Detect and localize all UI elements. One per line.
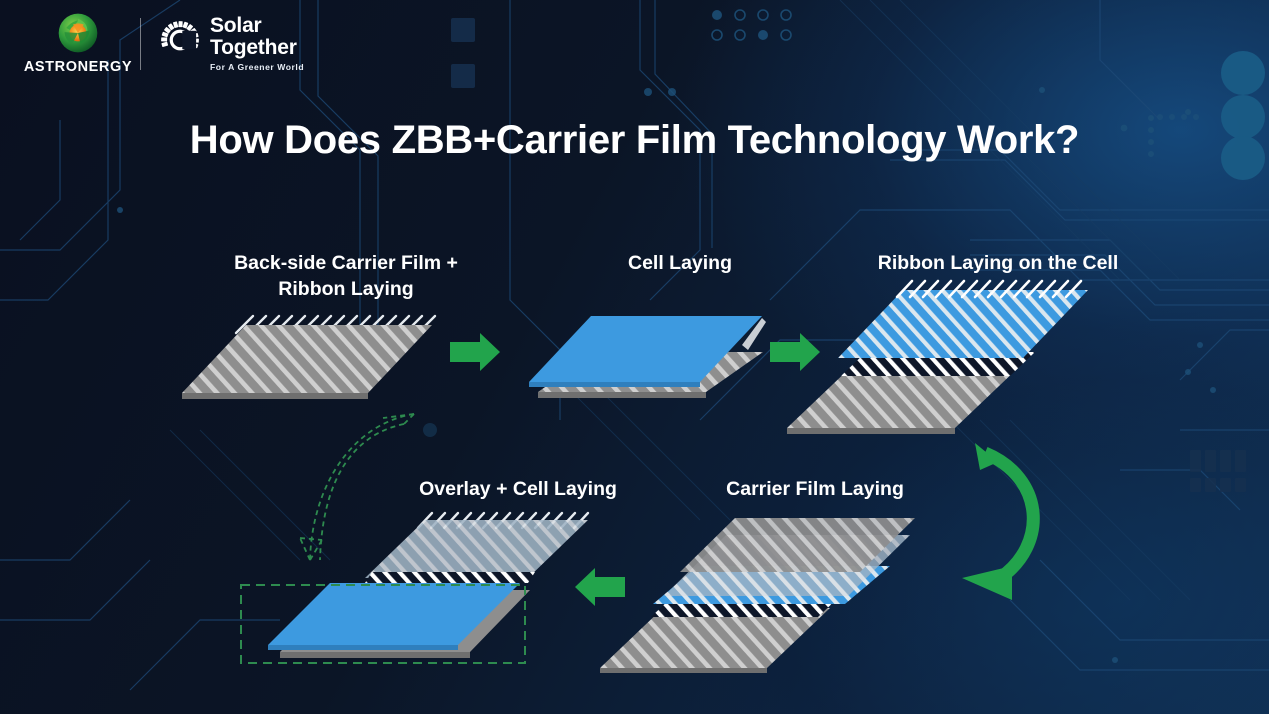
diagram-step-1 (182, 316, 435, 399)
diagram-step-3 (787, 281, 1088, 434)
arrow-step4-to-step5 (575, 568, 625, 606)
slide-root: ASTRONERGY (0, 0, 1269, 714)
diagram-step-4 (600, 518, 915, 673)
gray-carrier-film-step1-edge (182, 393, 368, 399)
astronergy-wordmark: ASTRONERGY (24, 59, 132, 75)
step-label-ribbon-laying-on-cell: Ribbon Laying on the Cell (838, 250, 1158, 276)
logo-divider (140, 18, 141, 70)
blue-cell-step3 (838, 290, 1088, 358)
overlay-film-step5 (365, 520, 588, 578)
astronergy-logo: ASTRONERGY (26, 12, 130, 75)
solar-together-text: Solar Together For A Greener World (210, 15, 304, 72)
diagram-step-2 (529, 316, 766, 398)
gray-base-step5-edge (280, 652, 470, 658)
gray-carrier-film-step3-edge (787, 428, 955, 434)
blue-cell-step2-edge (529, 382, 700, 387)
step-label-cell-laying: Cell Laying (556, 250, 804, 276)
step-label-back-side-carrier-film: Back-side Carrier Film + Ribbon Laying (178, 250, 514, 303)
solar-tagline: For A Greener World (210, 63, 304, 72)
solar-together-logo: Solar Together For A Greener World (157, 15, 304, 72)
solar-line-1: Solar (210, 15, 304, 36)
gray-carrier-film-step2-edge (538, 392, 706, 398)
blue-cell-step5-edge (268, 645, 458, 650)
process-diagram (0, 0, 1269, 714)
arrow-step3-to-step4 (962, 443, 1033, 600)
gray-carrier-film-step4-edge (600, 668, 767, 673)
ribbon-band-step5 (365, 572, 535, 583)
solar-arc-icon (157, 17, 203, 63)
step-label-overlay-cell-laying: Overlay + Cell Laying (360, 476, 676, 502)
arrow-step2-to-step3 (770, 333, 820, 371)
solar-line-2: Together (210, 37, 304, 58)
logo-bar: ASTRONERGY (26, 12, 304, 75)
astronergy-globe-icon (57, 12, 99, 54)
gray-carrier-film-step1 (182, 325, 432, 393)
diagram-step-5 (241, 513, 588, 663)
arrow-step1-to-step2 (450, 333, 500, 371)
page-title: How Does ZBB+Carrier Film Technology Wor… (0, 118, 1269, 163)
step-label-carrier-film-laying: Carrier Film Laying (678, 476, 952, 502)
